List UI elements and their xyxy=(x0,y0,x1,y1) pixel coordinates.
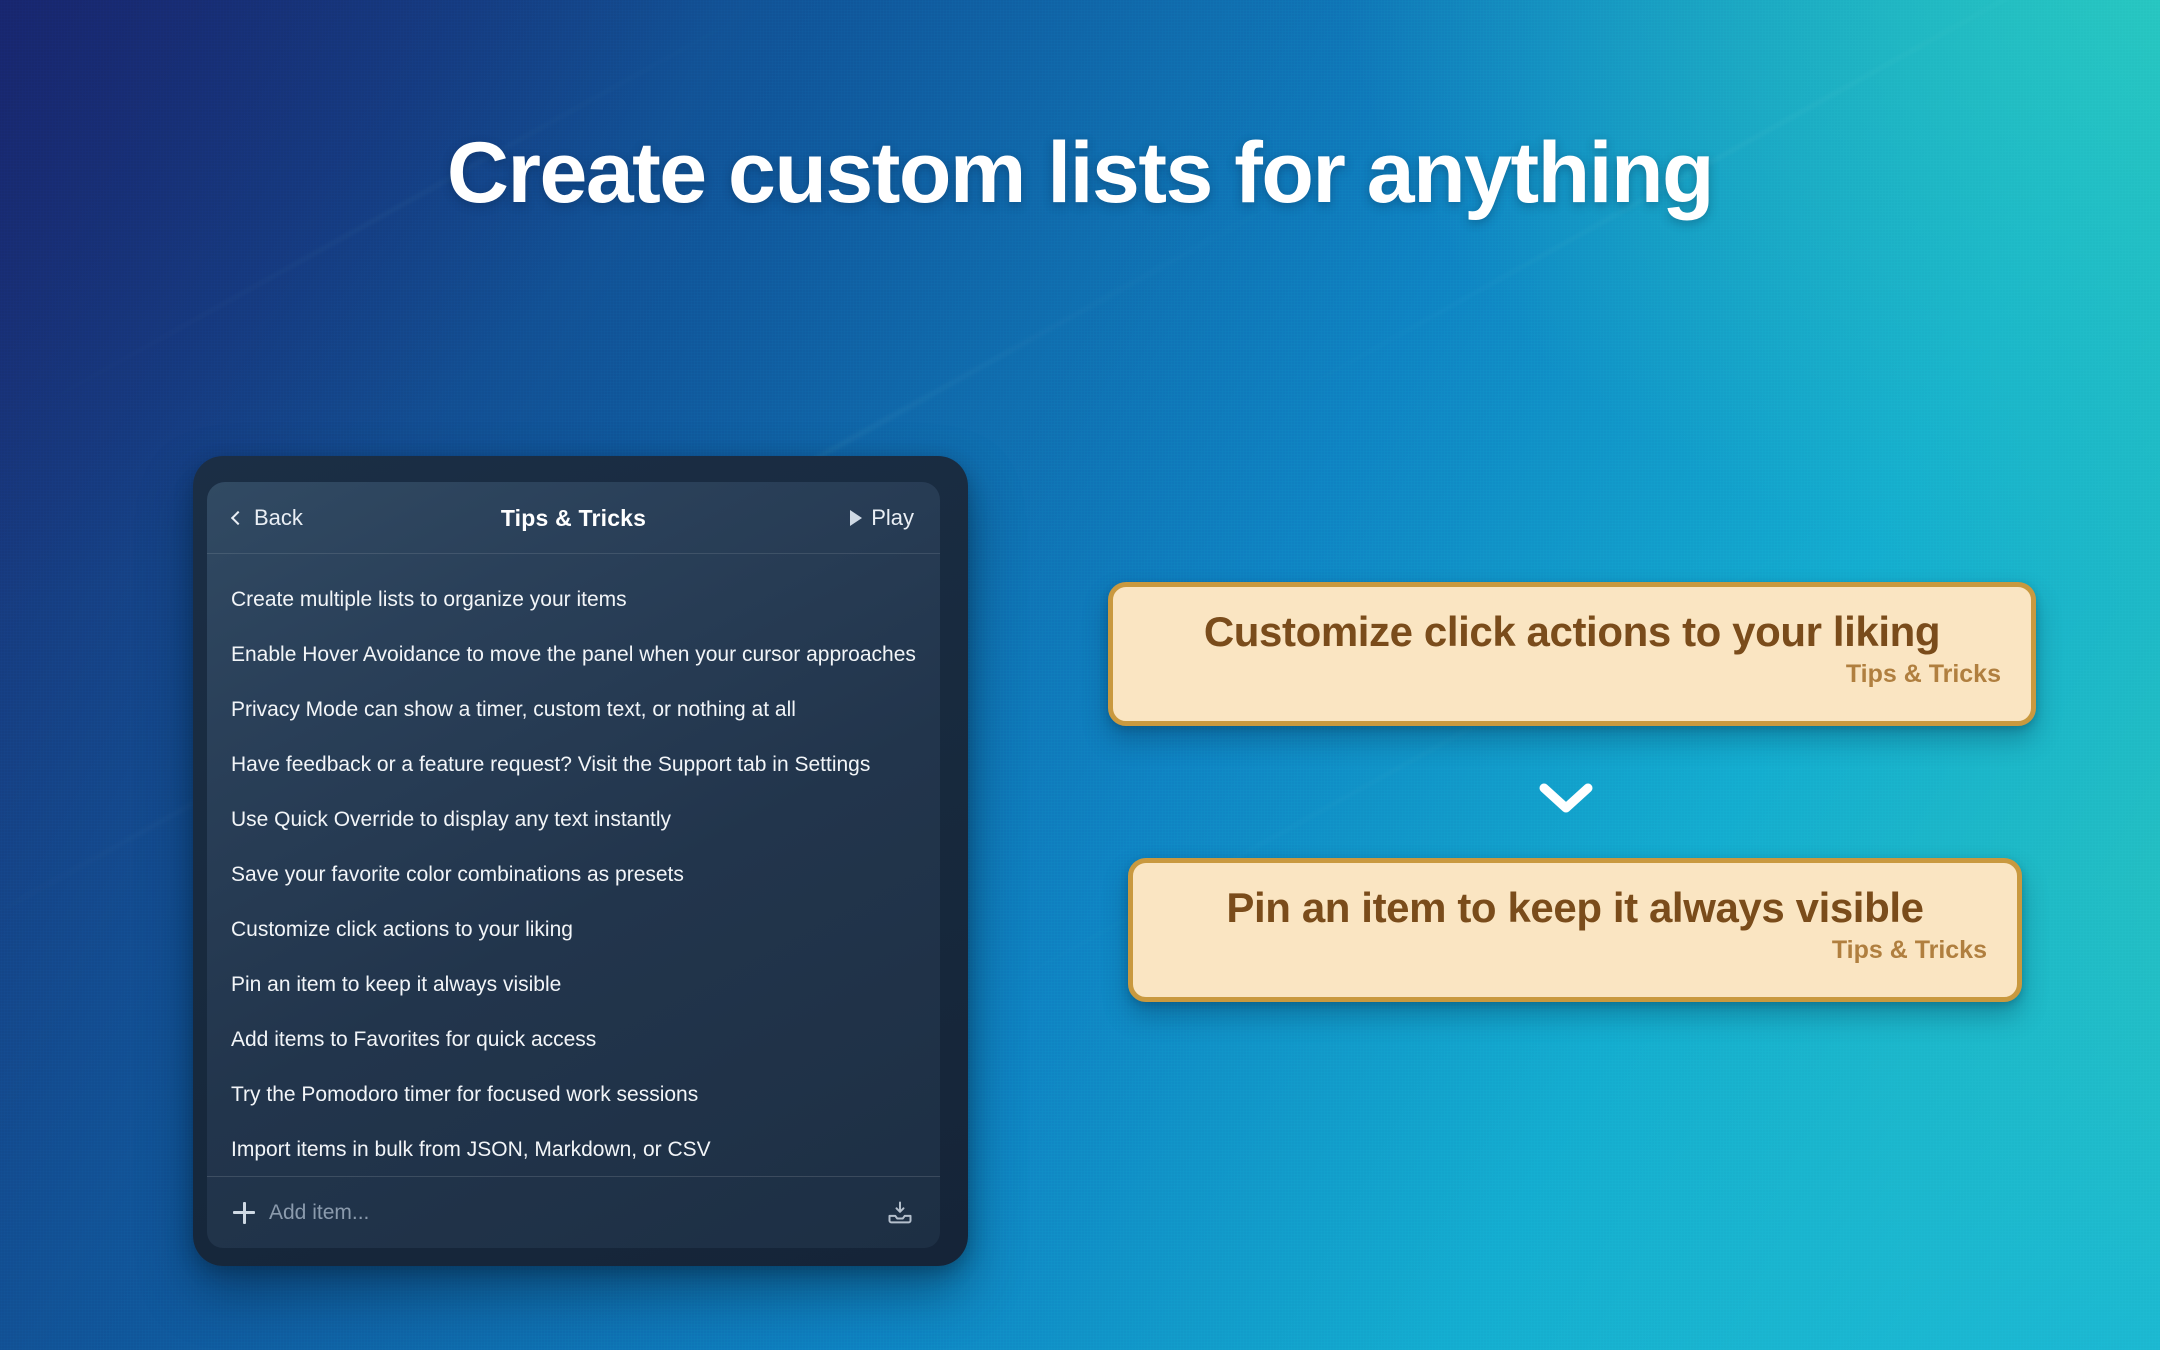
list-item[interactable]: Save your favorite color combinations as… xyxy=(207,847,940,902)
play-button[interactable]: Play xyxy=(850,505,914,531)
tips-list[interactable]: Create multiple lists to organize your i… xyxy=(207,554,940,1176)
list-item-label: Have feedback or a feature request? Visi… xyxy=(231,753,870,777)
chevron-left-icon xyxy=(231,510,245,524)
notification-card[interactable]: Customize click actions to your liking T… xyxy=(1108,582,2036,726)
notification-subtitle: Tips & Tricks xyxy=(1143,660,2001,689)
list-item[interactable]: Privacy Mode can show a timer, custom te… xyxy=(207,682,940,737)
play-button-label: Play xyxy=(871,505,914,531)
tips-panel-body: Back Play Tips & Tricks Create multiple … xyxy=(207,482,940,1248)
notification-title: Customize click actions to your liking xyxy=(1143,609,2001,654)
list-item[interactable]: Use Quick Override to display any text i… xyxy=(207,792,940,847)
list-item[interactable]: Enable Hover Avoidance to move the panel… xyxy=(207,627,940,682)
list-item[interactable]: Import items in bulk from JSON, Markdown… xyxy=(207,1122,940,1176)
plus-icon[interactable] xyxy=(233,1202,255,1224)
list-item-label: Save your favorite color combinations as… xyxy=(231,863,684,887)
list-item[interactable]: Pin an item to keep it always visible xyxy=(207,957,940,1012)
list-item-label: Import items in bulk from JSON, Markdown… xyxy=(231,1138,711,1162)
page-title: Create custom lists for anything xyxy=(0,128,2160,218)
list-item-label: Create multiple lists to organize your i… xyxy=(231,588,627,612)
list-item-label: Add items to Favorites for quick access xyxy=(231,1028,596,1052)
panel-header: Back Play Tips & Tricks xyxy=(207,482,940,554)
add-item-input[interactable]: Add item... xyxy=(269,1201,886,1225)
back-button-label: Back xyxy=(254,505,303,531)
inbox-download-icon[interactable] xyxy=(886,1199,914,1227)
list-item-label: Enable Hover Avoidance to move the panel… xyxy=(231,643,916,667)
list-item[interactable]: Create multiple lists to organize your i… xyxy=(207,572,940,627)
add-item-row[interactable]: Add item... xyxy=(207,1176,940,1248)
screenshot-canvas: Create custom lists for anything Back Pl… xyxy=(0,0,2160,1350)
list-item[interactable]: Have feedback or a feature request? Visi… xyxy=(207,737,940,792)
list-item-label: Customize click actions to your liking xyxy=(231,918,573,942)
list-item[interactable]: Customize click actions to your liking xyxy=(207,902,940,957)
list-item-label: Try the Pomodoro timer for focused work … xyxy=(231,1083,698,1107)
notification-title: Pin an item to keep it always visible xyxy=(1163,885,1987,930)
list-item-label: Privacy Mode can show a timer, custom te… xyxy=(231,698,796,722)
list-item-label: Pin an item to keep it always visible xyxy=(231,973,561,997)
tips-panel: Back Play Tips & Tricks Create multiple … xyxy=(193,456,968,1266)
list-item-label: Use Quick Override to display any text i… xyxy=(231,808,671,832)
list-item[interactable]: Add items to Favorites for quick access xyxy=(207,1012,940,1067)
panel-title: Tips & Tricks xyxy=(207,482,940,554)
back-button[interactable]: Back xyxy=(233,505,303,531)
notification-card[interactable]: Pin an item to keep it always visible Ti… xyxy=(1128,858,2022,1002)
notification-subtitle: Tips & Tricks xyxy=(1163,936,1987,965)
chevron-down-icon xyxy=(1536,778,1596,818)
play-triangle-icon xyxy=(850,510,862,526)
list-item[interactable]: Try the Pomodoro timer for focused work … xyxy=(207,1067,940,1122)
